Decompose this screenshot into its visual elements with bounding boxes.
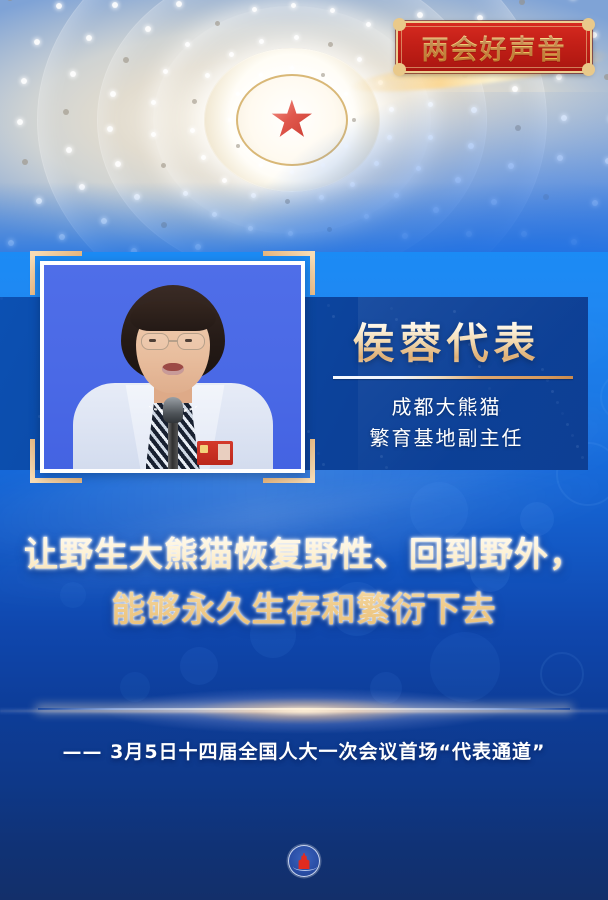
quote-line-1: 让野生大熊猫恢复野性、回到野外，	[0, 528, 608, 583]
attribution-text: —— 3月5日十四届全国人大一次会议首场“代表通道”	[0, 737, 608, 764]
portrait-mouth	[162, 363, 184, 375]
portrait-frame	[40, 261, 305, 473]
glasses-lens-left-icon	[141, 333, 169, 350]
quote-line-2: 能够永久生存和繁衍下去	[0, 583, 608, 638]
quote-block: 让野生大熊猫恢复野性、回到野外， 能够永久生存和繁衍下去	[0, 528, 608, 638]
delegate-badge-icon	[197, 441, 233, 465]
glasses-bridge-icon	[168, 340, 178, 342]
xinhua-emblem-icon	[288, 845, 320, 877]
portrait-fringe	[130, 301, 216, 331]
microphone-icon	[163, 397, 183, 423]
speaker-role: 成都大熊猫 繁育基地副主任	[305, 392, 588, 454]
banner-label: 两会好声音	[396, 21, 592, 73]
speaker-role-line1: 成都大熊猫	[305, 392, 588, 423]
speaker-role-line2: 繁育基地副主任	[305, 423, 588, 454]
speaker-name: 侯蓉代表	[305, 310, 588, 371]
glasses-lens-right-icon	[177, 333, 205, 350]
light-flare-band	[0, 676, 608, 746]
poster-root: 两会好声音 侯蓉代表 成都大熊	[0, 0, 608, 900]
emblem-arc	[293, 862, 317, 871]
light-flare-line	[38, 708, 570, 710]
name-divider	[333, 376, 573, 379]
program-banner: 两会好声音	[396, 21, 592, 73]
portrait-photo	[40, 261, 305, 473]
